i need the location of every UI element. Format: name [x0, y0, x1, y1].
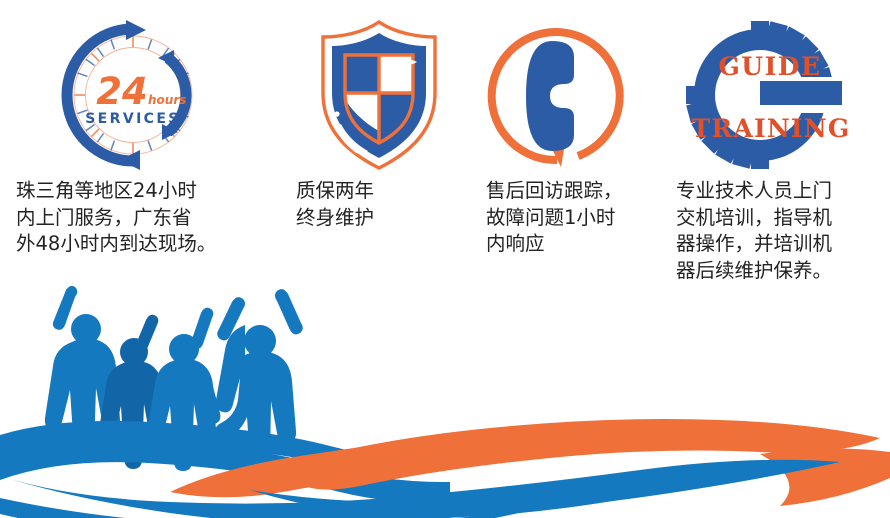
gear-training-label: TRAINING	[692, 114, 851, 143]
gear-guide-training-icon: GUIDE TRAINING	[674, 19, 860, 171]
feature-icon-slot: 24 hours SERVICES	[8, 12, 258, 178]
wave-orange-right-tip	[760, 448, 890, 506]
icon-24-number: 24	[96, 70, 148, 113]
phone-icon	[482, 19, 642, 171]
gear-e-bar	[760, 81, 842, 105]
shield-icon	[316, 19, 442, 171]
feature-icon-slot	[476, 12, 668, 178]
feature-item-warranty: 质保两年 终身维护	[258, 12, 470, 231]
feature-caption-service-24h: 珠三角等地区24小时 内上门服务，广东省 外48小时内到达现场。	[8, 178, 258, 258]
phone-handset	[526, 41, 574, 151]
feature-item-service-24h: 24 hours SERVICES 珠三角等地区24小时 内上门服务，广东省 外…	[0, 12, 258, 258]
feature-item-callback: 售后回访跟踪， 故障问题1小时 内响应	[470, 12, 668, 258]
celebration-artwork	[0, 276, 890, 518]
feature-icon-slot	[276, 12, 470, 178]
icon-hours-unit: hours	[148, 93, 186, 107]
bottom-artwork	[0, 276, 890, 518]
promo-banner: 24 hours SERVICES 珠三角等地区24小时 内上门服务，广东省 外…	[0, 0, 890, 518]
feature-icon-slot: GUIDE TRAINING	[672, 12, 890, 178]
icon-services-label: SERVICES	[85, 111, 181, 127]
feature-item-guide-training: GUIDE TRAINING 专业技术人员上门 交机培训，指导机 器操作，并培训…	[668, 12, 890, 284]
shield-highlight-dot	[334, 111, 339, 116]
feature-caption-guide-training: 专业技术人员上门 交机培训，指导机 器操作，并培训机 器后续维护保养。	[672, 178, 890, 284]
feature-caption-warranty: 质保两年 终身维护	[276, 178, 470, 231]
24-hours-service-icon: 24 hours SERVICES	[56, 18, 210, 172]
gear-guide-label: GUIDE	[718, 52, 821, 81]
feature-caption-callback: 售后回访跟踪， 故障问题1小时 内响应	[476, 178, 668, 258]
feature-list: 24 hours SERVICES 珠三角等地区24小时 内上门服务，广东省 外…	[0, 12, 890, 287]
